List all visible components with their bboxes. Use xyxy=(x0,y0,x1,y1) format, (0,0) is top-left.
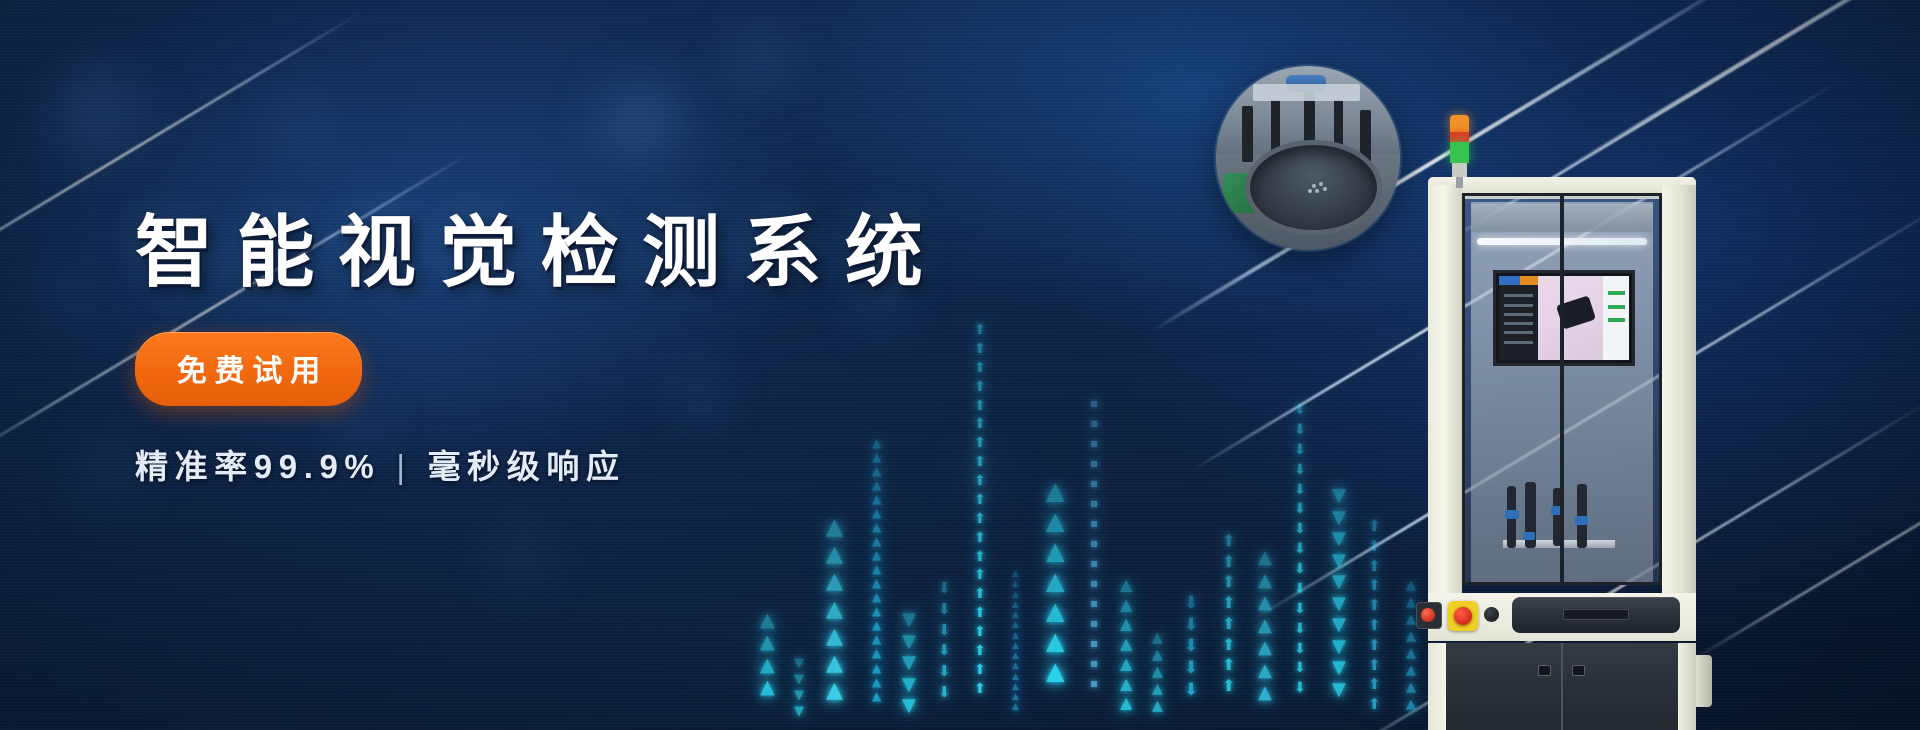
equalizer-glyph: ▲ xyxy=(1120,677,1132,692)
equalizer-glyph: ⬇ xyxy=(1184,683,1198,699)
equalizer-glyph: ⬆ xyxy=(974,494,986,507)
equalizer-glyph: ⬇ xyxy=(1294,682,1306,695)
equalizer-column: ▼▼▼▼ xyxy=(794,658,804,730)
equalizer-glyph: ⬇ xyxy=(938,582,951,596)
equalizer-glyph: ▲ xyxy=(760,634,775,651)
equalizer-column: ▲▲▲▲▲▲▲ xyxy=(1258,550,1272,730)
equalizer-glyph: ▲ xyxy=(1152,632,1163,645)
monitor-list-row xyxy=(1504,331,1533,334)
equalizer-glyph: ▪ xyxy=(1090,498,1098,509)
equalizer-glyph: ▪ xyxy=(1090,638,1098,649)
equalizer-glyph: ▲ xyxy=(1012,652,1019,660)
equalizer-glyph: ▲ xyxy=(1012,662,1019,670)
equalizer-glyph: ⬆ xyxy=(974,551,986,564)
subline-separator: | xyxy=(380,448,427,485)
robot-fitting xyxy=(1575,516,1588,525)
cabinet-pillar-left xyxy=(1428,185,1462,593)
equalizer-glyph: ▲ xyxy=(826,572,843,592)
equalizer-glyph: ▪ xyxy=(1090,658,1098,669)
equalizer-column: ▲▲▲▲ xyxy=(760,612,775,730)
inset-frame-rail xyxy=(1253,84,1360,101)
interior-robotics xyxy=(1499,480,1619,576)
monitor-list-row xyxy=(1504,313,1533,316)
stack-light-red xyxy=(1450,132,1469,142)
cabinet-side-left xyxy=(1428,643,1446,730)
equalizer-glyph: ⬇ xyxy=(1294,484,1306,497)
equalizer-glyph: ⬆ xyxy=(1222,575,1235,590)
equalizer-glyph: ⬇ xyxy=(1184,639,1198,655)
equalizer-glyph: ⬇ xyxy=(1294,662,1306,675)
equalizer-glyph: ▲ xyxy=(1012,611,1019,619)
equalizer-glyph: ▲ xyxy=(1258,663,1272,680)
equalizer-glyph: ⬇ xyxy=(1294,444,1306,457)
equalizer-glyph: ▲ xyxy=(1258,595,1272,612)
equalizer-glyph: ▼ xyxy=(794,674,804,686)
equalizer-glyph: ▼ xyxy=(794,658,804,670)
inset-arm xyxy=(1242,106,1253,161)
inset-disk-dot xyxy=(1319,182,1323,186)
equalizer-glyph: ▲ xyxy=(1012,693,1019,701)
equalizer-glyph: ▼ xyxy=(1332,488,1346,505)
equalizer-glyph: ▲ xyxy=(1120,578,1132,593)
equalizer-glyph: ⬇ xyxy=(1184,618,1198,634)
equalizer-glyph: ⬆ xyxy=(1368,678,1381,692)
equalizer-glyph: ⬆ xyxy=(1222,534,1235,549)
equalizer-glyph: ⬆ xyxy=(974,588,986,601)
equalizer-glyph: ▼ xyxy=(794,690,804,702)
selector-switch-icon[interactable] xyxy=(1421,608,1435,622)
robot-fitting xyxy=(1523,532,1535,540)
equalizer-glyph: ▲ xyxy=(1120,617,1132,632)
monitor-list-row xyxy=(1504,304,1533,307)
equalizer-glyph: ▪ xyxy=(1090,598,1098,609)
equalizer-glyph: ▲ xyxy=(826,627,843,647)
stack-light-amber xyxy=(1450,115,1469,132)
equalizer-glyph: ▲ xyxy=(1012,673,1019,681)
glow-orb xyxy=(37,52,153,168)
equalizer-glyph: ▲ xyxy=(1012,632,1019,640)
monitor-status-bar xyxy=(1608,291,1625,295)
equalizer-glyph: ⬇ xyxy=(1294,643,1306,656)
emergency-stop-icon[interactable] xyxy=(1454,607,1472,625)
equalizer-glyph: ⬆ xyxy=(974,683,986,696)
equalizer-glyph: ⬇ xyxy=(1294,623,1306,636)
stack-light-base xyxy=(1452,163,1467,177)
equalizer-glyph: ▪ xyxy=(1090,558,1098,569)
equalizer-glyph: ⬆ xyxy=(974,607,986,620)
equalizer-glyph: ⬆ xyxy=(974,645,986,658)
equalizer-glyph: ▲ xyxy=(872,606,881,617)
inset-disk-dot xyxy=(1312,184,1316,188)
equalizer-glyph: ▼ xyxy=(1332,596,1346,613)
equalizer-column: ▲▲▲▲▲ xyxy=(1152,632,1163,730)
equalizer-glyph: ▲ xyxy=(872,522,881,533)
equalizer-glyph: ▲ xyxy=(1046,600,1064,622)
equalizer-glyph: ⬆ xyxy=(974,626,986,639)
equalizer-glyph: ▲ xyxy=(872,578,881,589)
equalizer-glyph: ▪ xyxy=(1090,538,1098,549)
equalizer-glyph: ▲ xyxy=(872,691,881,702)
monitor-screen xyxy=(1499,276,1629,360)
hero-copy: 智能视觉检测系统 免费试用 精准率99.9%|毫秒级响应 xyxy=(135,190,1115,488)
stack-light-green xyxy=(1450,142,1469,162)
glow-orb xyxy=(266,86,334,154)
viewing-window xyxy=(1462,193,1662,585)
equalizer-glyph: ▼ xyxy=(1332,531,1346,548)
equalizer-glyph: ▲ xyxy=(1258,685,1272,702)
equalizer-glyph: ▲ xyxy=(872,508,881,519)
glow-orb xyxy=(34,274,86,326)
equalizer-glyph: ▼ xyxy=(1332,510,1346,527)
equalizer-glyph: ▲ xyxy=(1046,660,1064,682)
equalizer-glyph: ▲ xyxy=(1012,570,1019,578)
equalizer-glyph: ▪ xyxy=(1090,518,1098,529)
equalizer-glyph: ▲ xyxy=(826,545,843,565)
equalizer-glyph: ▪ xyxy=(1090,678,1098,689)
equalizer-glyph: ⬆ xyxy=(974,532,986,545)
equalizer-glyph: ⬇ xyxy=(1294,543,1306,556)
equalizer-glyph: ▲ xyxy=(1046,630,1064,652)
equalizer-glyph: ▲ xyxy=(1258,573,1272,590)
equalizer-glyph: ⬆ xyxy=(1368,639,1381,653)
equalizer-glyph: ▲ xyxy=(872,663,881,674)
equalizer-glyph: ▲ xyxy=(1012,621,1019,629)
equalizer-glyph: ▲ xyxy=(1012,703,1019,711)
equalizer-glyph: ▲ xyxy=(826,600,843,620)
equalizer-column: ⬆⬆⬆⬆⬆⬆⬆⬆ xyxy=(1222,534,1235,730)
cabinet-side-right xyxy=(1678,643,1696,730)
equalizer-glyph: ▲ xyxy=(1152,683,1163,696)
equalizer-glyph: ⬇ xyxy=(1294,603,1306,616)
inset-photo xyxy=(1216,66,1400,250)
equalizer-glyph: ▲ xyxy=(1012,642,1019,650)
equalizer-glyph: ⬇ xyxy=(1294,583,1306,596)
inspection-machine: SiPOTEK 深圳市思普泰克科技有限公司 xyxy=(1400,115,1720,730)
equalizer-glyph: ▲ xyxy=(1120,637,1132,652)
door-handle[interactable] xyxy=(1538,665,1551,676)
equalizer-glyph: ▼ xyxy=(902,612,916,629)
rotary-inspection-disk-icon xyxy=(1216,66,1400,250)
equalizer-glyph: ▲ xyxy=(826,654,843,674)
equalizer-glyph: ⬆ xyxy=(1368,560,1381,574)
equalizer-glyph: ▲ xyxy=(760,679,775,696)
monitor-list-row xyxy=(1504,341,1533,344)
equalizer-glyph: ▲ xyxy=(872,620,881,631)
equalizer-glyph: ⬆ xyxy=(1222,638,1235,653)
indicator-lamp-icon xyxy=(1484,607,1499,622)
equalizer-glyph: ▼ xyxy=(794,706,804,718)
glow-orb xyxy=(480,520,560,600)
equalizer-glyph: ▲ xyxy=(1152,700,1163,713)
accuracy-stat: 精准率99.9% xyxy=(135,448,380,485)
equalizer-glyph: ⬇ xyxy=(1294,523,1306,536)
equalizer-glyph: ⬆ xyxy=(1368,599,1381,613)
equalizer-glyph: ▼ xyxy=(902,655,916,672)
equalizer-glyph: ▲ xyxy=(1120,696,1132,711)
equalizer-column: ▲▲▲▲▲▲▲ xyxy=(1046,480,1064,730)
equalizer-glyph: ▲ xyxy=(826,681,843,701)
equalizer-glyph: ▼ xyxy=(1332,639,1346,656)
equalizer-glyph: ▲ xyxy=(872,494,881,505)
equalizer-glyph: ▲ xyxy=(1012,591,1019,599)
equalizer-glyph: ▲ xyxy=(1258,550,1272,567)
stack-light-icon xyxy=(1450,115,1469,187)
equalizer-glyph: ⬆ xyxy=(1222,555,1235,570)
drawer-slot xyxy=(1563,609,1629,620)
equalizer-glyph: ⬇ xyxy=(1294,503,1306,516)
equalizer-glyph: ⬇ xyxy=(1294,404,1306,417)
equalizer-glyph: ⬆ xyxy=(1368,540,1381,554)
equalizer-glyph: ▲ xyxy=(1012,601,1019,609)
equalizer-glyph: ⬇ xyxy=(938,644,951,658)
equalizer-glyph: ▲ xyxy=(872,677,881,688)
equalizer-glyph: ▲ xyxy=(1046,570,1064,592)
equalizer-column: ⬆⬆⬆⬆⬆⬆⬆⬆⬆⬆ xyxy=(1368,520,1381,730)
equalizer-glyph: ⬇ xyxy=(938,603,951,617)
stack-light-stem xyxy=(1456,177,1463,189)
equalizer-glyph: ▼ xyxy=(902,634,916,651)
equalizer-glyph: ▼ xyxy=(1332,682,1346,699)
equalizer-column: ⬇⬇⬇⬇⬇⬇ xyxy=(938,582,951,730)
equalizer-glyph: ▼ xyxy=(1332,660,1346,677)
equalizer-glyph: ⬆ xyxy=(1368,619,1381,633)
equalizer-glyph: ⬇ xyxy=(1184,596,1198,612)
free-trial-button[interactable]: 免费试用 xyxy=(135,332,362,406)
equalizer-glyph: ▼ xyxy=(902,677,916,694)
monitor-status-bar xyxy=(1608,318,1625,322)
equalizer-glyph: ▲ xyxy=(872,564,881,575)
equalizer-glyph: ⬆ xyxy=(974,569,986,582)
equalizer-glyph: ⬆ xyxy=(1222,596,1235,611)
cabinet-pillar-right xyxy=(1662,185,1696,593)
monitor-sidebar xyxy=(1499,276,1538,360)
equalizer-glyph: ⬆ xyxy=(1222,617,1235,632)
equalizer-glyph: ⬇ xyxy=(938,665,951,679)
equalizer-glyph: ▲ xyxy=(760,657,775,674)
hero-banner: ▲▲▲▲▼▼▼▼▲▲▲▲▲▲▲▲▲▲▲▲▲▲▲▲▲▲▲▲▲▲▲▲▲▲▼▼▼▼▼⬇… xyxy=(0,0,1920,730)
equalizer-glyph: ▲ xyxy=(872,592,881,603)
equalizer-glyph: ▼ xyxy=(1332,574,1346,591)
equalizer-glyph: ▲ xyxy=(872,634,881,645)
equalizer-column: ▲▲▲▲▲▲▲ xyxy=(1120,578,1132,730)
equalizer-glyph: ⬆ xyxy=(1222,679,1235,694)
monitor-list-row xyxy=(1504,322,1533,325)
equalizer-glyph: ▼ xyxy=(902,698,916,715)
glow-orb xyxy=(584,64,696,176)
equalizer-glyph: ⬆ xyxy=(1368,579,1381,593)
equalizer-glyph: ⬆ xyxy=(974,513,986,526)
equalizer-glyph: ⬆ xyxy=(1368,520,1381,534)
page-title: 智能视觉检测系统 xyxy=(135,190,1115,302)
lower-cabinet-doors: SiPOTEK 深圳市思普泰克科技有限公司 xyxy=(1446,643,1678,730)
equalizer-glyph: ▲ xyxy=(872,550,881,561)
monitor-status-bar xyxy=(1608,305,1625,309)
equalizer-glyph: ⬇ xyxy=(1294,563,1306,576)
monitor-menu xyxy=(1499,276,1520,285)
equalizer-column: ▲▲▲▲▲▲▲▲▲▲▲▲▲▲ xyxy=(1012,570,1019,730)
equalizer-glyph: ▪ xyxy=(1090,618,1098,629)
equalizer-glyph: ⬆ xyxy=(1368,698,1381,712)
glow-orb xyxy=(720,20,800,100)
equalizer-glyph: ▲ xyxy=(872,536,881,547)
equalizer-column: ⬇⬇⬇⬇⬇ xyxy=(1184,596,1198,730)
equalizer-glyph: ⬆ xyxy=(1368,659,1381,673)
equalizer-column: ▼▼▼▼▼ xyxy=(902,612,916,730)
equalizer-glyph: ⬇ xyxy=(938,624,951,638)
door-handle[interactable] xyxy=(1572,665,1585,676)
light-streak xyxy=(1689,423,1920,662)
equalizer-glyph: ▲ xyxy=(760,612,775,629)
equalizer-glyph: ▼ xyxy=(1332,617,1346,634)
equalizer-glyph: ▲ xyxy=(1046,540,1064,562)
equalizer-column: ⬇⬇⬇⬇⬇⬇⬇⬇⬇⬇⬇⬇⬇⬇⬇ xyxy=(1294,404,1306,730)
equalizer-glyph: ▲ xyxy=(1012,580,1019,588)
robot-fitting xyxy=(1505,510,1519,519)
equalizer-glyph: ▪ xyxy=(1090,578,1098,589)
equalizer-glyph: ⬇ xyxy=(1184,661,1198,677)
equalizer-glyph: ▲ xyxy=(826,518,843,538)
hero-subline: 精准率99.9%|毫秒级响应 xyxy=(135,440,1115,488)
keyboard-drawer[interactable] xyxy=(1512,597,1680,633)
equalizer-glyph: ⬆ xyxy=(1222,658,1235,673)
monitor-list-row xyxy=(1504,294,1533,297)
equalizer-glyph: ▲ xyxy=(1046,510,1064,532)
equalizer-glyph: ▲ xyxy=(1012,683,1019,691)
equalizer-glyph: ▲ xyxy=(1258,640,1272,657)
interior-monitor xyxy=(1493,270,1635,366)
side-bracket xyxy=(1696,655,1712,707)
equalizer-glyph: ▲ xyxy=(872,648,881,659)
equalizer-column: ▼▼▼▼▼▼▼▼▼▼ xyxy=(1332,488,1346,730)
equalizer-glyph: ⬇ xyxy=(1294,424,1306,437)
equalizer-glyph: ⬆ xyxy=(974,664,986,677)
equalizer-column: ▲▲▲▲▲▲▲ xyxy=(826,518,843,730)
equalizer-glyph: ⬇ xyxy=(1294,464,1306,477)
equalizer-glyph: ▼ xyxy=(1332,553,1346,570)
equalizer-glyph: ▲ xyxy=(1152,649,1163,662)
equalizer-glyph: ⬇ xyxy=(938,686,951,700)
equalizer-glyph: ▲ xyxy=(1120,598,1132,613)
window-mullion xyxy=(1560,196,1564,582)
equalizer-glyph: ▲ xyxy=(1258,618,1272,635)
door-split-line xyxy=(1561,643,1563,730)
response-stat: 毫秒级响应 xyxy=(428,448,626,485)
equalizer-glyph: ▲ xyxy=(1120,657,1132,672)
equalizer-glyph: ▲ xyxy=(1152,666,1163,679)
